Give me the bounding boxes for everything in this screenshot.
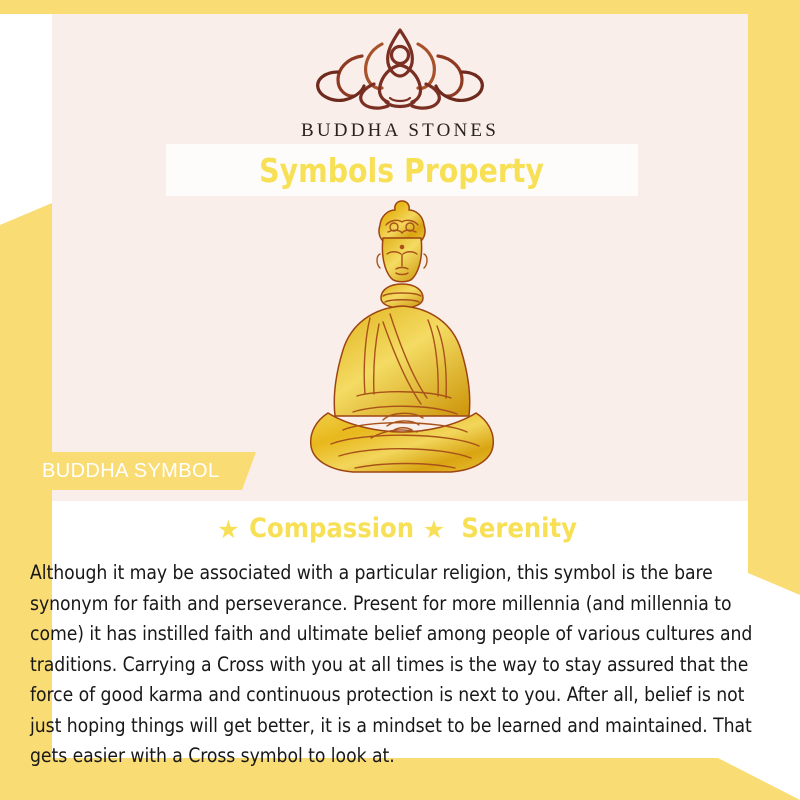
attributes-heading: ★Compassion★ Serenity [52,513,748,544]
poster-canvas: BUDDHA STONES Symbols Property [0,0,800,800]
brand-wordmark: BUDDHA STONES [0,120,800,142]
attribute-serenity: Serenity [461,513,577,544]
page-title: Symbols Property [260,151,545,190]
description-paragraph: Although it may be associated with a par… [30,558,772,772]
star-icon-2: ★ [423,515,445,544]
hero-image [295,198,510,488]
brand-logo-block: BUDDHA STONES [0,22,800,142]
title-banner: Symbols Property [166,144,638,196]
lotus-meditation-icon [312,22,488,114]
star-icon-1: ★ [217,515,239,544]
ribbon-label: BUDDHA SYMBOL [18,460,219,483]
attribute-compassion: Compassion [249,513,414,544]
golden-buddha-statue [295,198,510,488]
section-ribbon: BUDDHA SYMBOL [18,452,256,490]
frame-top-bar [0,0,800,14]
